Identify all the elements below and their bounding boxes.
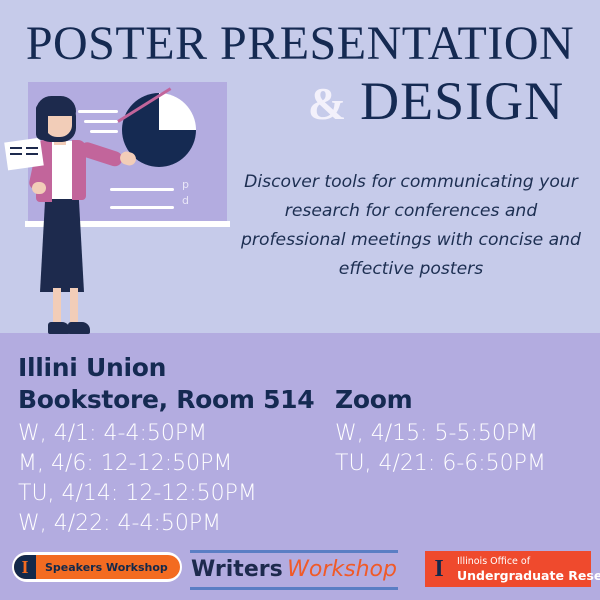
- poster-canvas: POSTER PRESENTATION & DESIGN Discover to…: [0, 0, 600, 600]
- venue-column: Illini Union Bookstore, Room 514 W, 4/1:…: [18, 352, 328, 539]
- venue-heading-line2: Bookstore, Room 514: [18, 384, 328, 416]
- illinois-i-icon: I: [425, 551, 453, 587]
- list-item: TU, 4/14: 12-12:50PM: [18, 479, 328, 509]
- presenter-hand-lowered: [32, 182, 46, 194]
- board-text-line: [90, 130, 118, 133]
- paper-text-line: [10, 147, 22, 149]
- zoom-column: Zoom W, 4/15: 5-5:50PM TU, 4/21: 6-6:50P…: [335, 384, 595, 479]
- list-item: W, 4/15: 5-5:50PM: [335, 419, 595, 449]
- venue-heading-line1: Illini Union: [18, 352, 328, 384]
- illinois-i-icon: I: [14, 555, 36, 579]
- list-item: W, 4/1: 4-4:50PM: [18, 419, 328, 449]
- department-label: Undergraduate Research: [457, 568, 600, 583]
- board-text-line: [110, 188, 174, 191]
- venue-session-list: W, 4/1: 4-4:50PM M, 4/6: 12-12:50PM TU, …: [18, 419, 328, 539]
- paper-text-line: [26, 153, 38, 155]
- list-item: TU, 4/21: 6-6:50PM: [335, 449, 595, 479]
- description-text: Discover tools for communicating your re…: [230, 168, 592, 284]
- illinois-i-glyph: I: [434, 557, 443, 581]
- speakers-workshop-label: Speakers Workshop: [36, 561, 168, 574]
- presenter-skirt: [40, 196, 84, 292]
- board-text-line: [78, 110, 118, 113]
- presenter-shoe-left: [48, 322, 70, 334]
- footer-logos: I Speakers Workshop Writers Workshop I I…: [0, 548, 600, 600]
- paper-text-line: [26, 147, 38, 149]
- presenter-shoe-right: [68, 322, 90, 334]
- writers-word: Writers: [191, 557, 283, 582]
- speakers-workshop-pill: I Speakers Workshop: [14, 555, 180, 579]
- undergraduate-research-text: Illinois Office of Undergraduate Researc…: [453, 555, 600, 583]
- zoom-session-list: W, 4/15: 5-5:50PM TU, 4/21: 6-6:50PM: [335, 419, 595, 479]
- list-item: W, 4/22: 4-4:50PM: [18, 509, 328, 539]
- illinois-i-glyph: I: [21, 558, 28, 576]
- title-second-line: & DESIGN: [272, 72, 600, 133]
- writers-workshop-logo[interactable]: Writers Workshop: [190, 550, 398, 590]
- paper-text-line: [10, 153, 22, 155]
- board-glyph-d: d: [182, 194, 189, 207]
- presenter-leg-right: [70, 288, 78, 326]
- list-item: M, 4/6: 12-12:50PM: [18, 449, 328, 479]
- undergraduate-research-logo[interactable]: I Illinois Office of Undergraduate Resea…: [425, 551, 591, 587]
- board-text-line: [110, 206, 174, 209]
- presenter-hair-side: [36, 104, 48, 140]
- office-label: Illinois Office of: [457, 555, 600, 568]
- workshop-word: Workshop: [287, 557, 397, 582]
- board-text-line: [84, 120, 118, 123]
- board-glyph-p: p: [182, 178, 189, 191]
- presenter-illustration: p d: [0, 0, 240, 340]
- presenter-leg-left: [53, 288, 61, 326]
- ampersand-glyph: &: [308, 75, 346, 133]
- speakers-workshop-logo[interactable]: I Speakers Workshop: [12, 552, 182, 582]
- page-subtitle: DESIGN: [360, 72, 564, 130]
- zoom-heading: Zoom: [335, 384, 595, 416]
